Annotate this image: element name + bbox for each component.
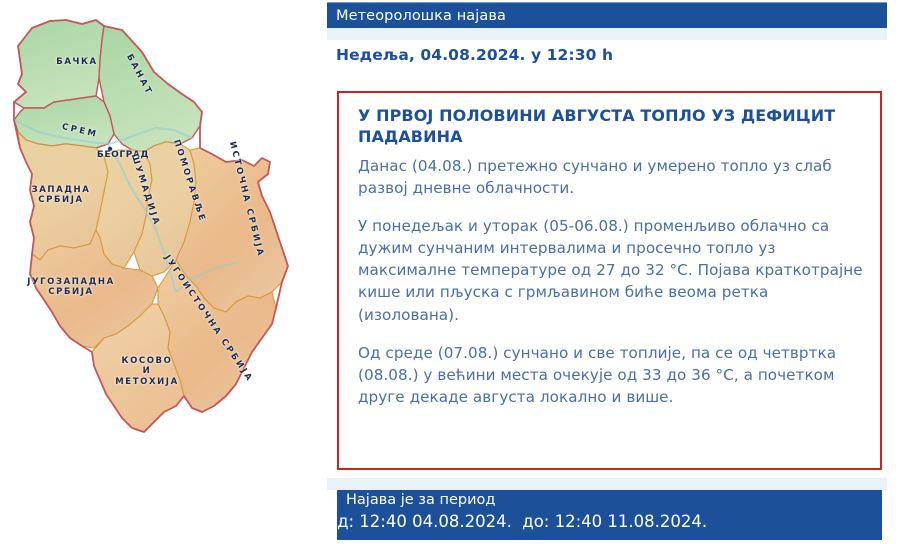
footer-underband [327, 478, 887, 490]
page-title: Метеоролошка најава [336, 8, 506, 24]
page-title-bar: Метеоролошка најава [327, 2, 887, 28]
validity-period-box: Најава је за период од: 12:40 04.08.2024… [337, 490, 882, 540]
alert-box: У ПРВОЈ ПОЛОВИНИ АВГУСТА ТОПЛО УЗ ДЕФИЦИ… [337, 91, 882, 470]
title-underband [327, 28, 887, 40]
serbia-map-svg [4, 16, 304, 446]
alert-paragraph-1: Данас (04.08.) претежно сунчано и умерен… [358, 155, 863, 199]
validity-period-range: од: 12:40 04.08.2024. до: 12:40 11.08.20… [327, 512, 707, 531]
belgrade-marker [108, 147, 112, 151]
serbia-region-map: БАЧКА БАНАТ СРЕМ БЕОГРАД ЗАПАДНА СРБИЈА … [0, 0, 318, 544]
alert-paragraph-3: Од среде (07.08.) сунчано и све топлије,… [358, 342, 863, 409]
validity-period-label: Најава је за период [346, 492, 495, 508]
forecast-content: Метеоролошка најава Недеља, 04.08.2024. … [318, 0, 900, 544]
alert-headline: У ПРВОЈ ПОЛОВИНИ АВГУСТА ТОПЛО УЗ ДЕФИЦИ… [358, 105, 863, 148]
issue-datetime: Недеља, 04.08.2024. у 12:30 h [336, 46, 886, 64]
weather-forecast-page: БАЧКА БАНАТ СРЕМ БЕОГРАД ЗАПАДНА СРБИЈА … [0, 0, 900, 544]
alert-paragraph-2: У понедељак и уторак (05-06.08.) променљ… [358, 215, 863, 326]
